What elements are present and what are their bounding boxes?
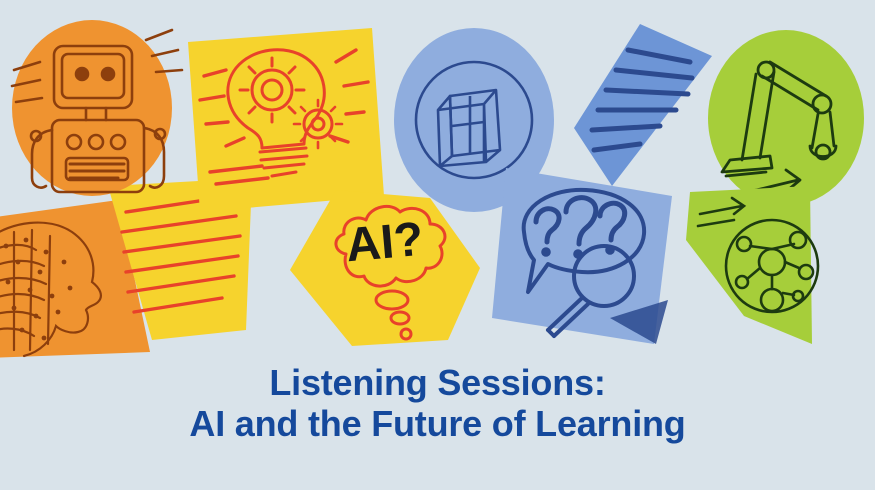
question-marks-note	[492, 168, 672, 344]
title-line-1: Listening Sessions:	[0, 362, 875, 403]
ai-question-label: AI?	[344, 213, 426, 273]
robot-arm-circle	[708, 30, 864, 206]
page-title: Listening Sessions: AI and the Future of…	[0, 362, 875, 444]
title-line-2: AI and the Future of Learning	[0, 403, 875, 444]
listening-sessions-banner: AI? Listening Sessions: AI and the Futur…	[0, 0, 875, 490]
lightbulb-note	[188, 28, 384, 212]
